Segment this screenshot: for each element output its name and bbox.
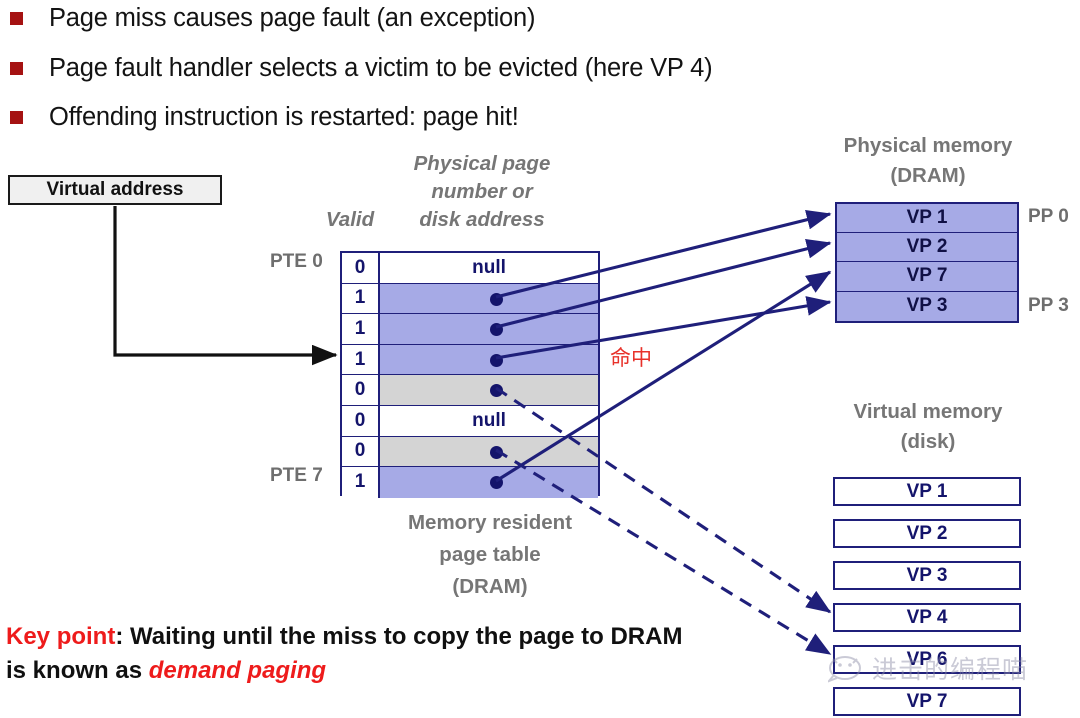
valid-bit-cell: 1 [342,314,380,344]
pp-label-first: PP 0 [1028,206,1069,228]
pagetable-data-header-line2: number or [382,180,582,204]
physical-memory-box: VP 1 VP 2 VP 7 VP 3 [835,202,1019,323]
ppn-cell [380,345,598,375]
page-table-row[interactable]: 1 [342,314,598,345]
page-table-row[interactable]: 0 null [342,253,598,284]
pointer-dot-icon [490,354,503,367]
pagetable-caption-line1: Memory resident [370,511,610,535]
pointer-dot-icon [490,293,503,306]
pagetable-caption-line2: page table [370,543,610,567]
pagetable-caption-line3: (DRAM) [370,575,610,599]
key-point-emphasis: demand paging [149,657,326,684]
page-table-row[interactable]: 1 [342,284,598,315]
valid-bit-cell: 0 [342,437,380,467]
disk-page-slot[interactable]: VP 2 [833,519,1021,548]
pagetable-data-header-line3: disk address [382,208,582,232]
bullet-text: Offending instruction is restarted: page… [49,103,519,132]
page-table-row[interactable]: 0 null [342,406,598,437]
key-point-lead: Key point [6,623,115,650]
bullet-item: Page miss causes page fault (an exceptio… [0,0,1060,36]
pagetable-data-header-line1: Physical page [382,152,582,176]
virtual-memory-title-line1: Virtual memory [810,400,1046,424]
disk-page-slot[interactable]: VP 6 [833,645,1021,674]
valid-bit-cell: 0 [342,253,380,283]
key-point-text: Key point: Waiting until the miss to cop… [6,620,696,688]
ppn-cell [380,467,598,498]
bullet-text: Page fault handler selects a victim to b… [49,54,712,83]
valid-bit-cell: 0 [342,406,380,436]
ppn-cell [380,437,598,467]
bullet-square-icon [10,12,23,25]
page-table-row[interactable]: 0 [342,375,598,406]
valid-bit-cell: 1 [342,345,380,375]
bullet-item: Page fault handler selects a victim to b… [0,50,1060,86]
ppn-cell [380,314,598,344]
page-table-row[interactable]: 1 [342,467,598,498]
pp-label-last: PP 3 [1028,295,1069,317]
valid-bit-cell: 1 [342,284,380,314]
pte-first-label: PTE 0 [270,251,323,273]
valid-bit-cell: 1 [342,467,380,498]
page-table: 0 null 1 1 1 0 0 null 0 [340,251,600,496]
pte-last-label: PTE 7 [270,465,323,487]
disk-page-slot[interactable]: VP 4 [833,603,1021,632]
ppn-cell: null [380,406,598,436]
physical-memory-frame[interactable]: VP 1 [837,204,1017,233]
physical-memory-title-line2: (DRAM) [810,164,1046,188]
bullet-text: Page miss causes page fault (an exceptio… [49,4,535,33]
disk-page-slot[interactable]: VP 1 [833,477,1021,506]
disk-page-slot[interactable]: VP 7 [833,687,1021,716]
ppn-cell [380,284,598,314]
physical-memory-frame[interactable]: VP 2 [837,233,1017,262]
page-table-row[interactable]: 1 [342,345,598,376]
valid-bit-cell: 0 [342,375,380,405]
virtual-address-box: Virtual address [8,175,222,205]
ppn-cell: null [380,253,598,283]
pointer-dot-icon [490,446,503,459]
disk-page-slot[interactable]: VP 3 [833,561,1021,590]
ppn-cell [380,375,598,405]
bullet-square-icon [10,62,23,75]
bullet-square-icon [10,111,23,124]
pagetable-valid-header: Valid [310,208,390,232]
hit-annotation: 命中 [610,342,652,372]
physical-memory-frame[interactable]: VP 7 [837,262,1017,291]
physical-memory-frame[interactable]: VP 3 [837,292,1017,321]
slide-canvas: Page miss causes page fault (an exceptio… [0,0,1080,718]
bullet-item: Offending instruction is restarted: page… [0,99,1060,135]
virtual-memory-title-line2: (disk) [810,430,1046,454]
physical-memory-title-line1: Physical memory [810,134,1046,158]
page-table-row[interactable]: 0 [342,437,598,468]
